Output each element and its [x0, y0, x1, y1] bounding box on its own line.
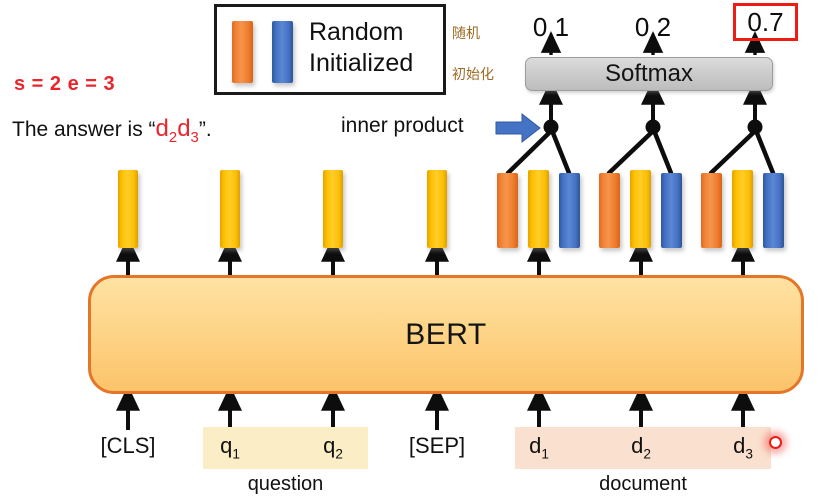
- legend-cn-line2: 初始化: [452, 64, 494, 84]
- legend-label-line2: Initialized: [309, 48, 413, 79]
- probability-value-2: 0.2: [623, 12, 683, 43]
- answer-token-1: d2: [156, 115, 178, 142]
- dot-to-softmax-arrows: [551, 92, 755, 122]
- token-to-encoder-arrows: [128, 398, 743, 430]
- laser-pointer-dot-cursor: [769, 436, 782, 449]
- legend-label-line1: Random: [309, 17, 413, 48]
- answer-prefix: The answer is “: [12, 118, 156, 141]
- input-token-d2: d2: [611, 433, 671, 461]
- encoder-to-vector-arrows: [128, 249, 743, 275]
- softmax-to-prob-arrows: [551, 42, 755, 55]
- inner-product-dots: [544, 120, 763, 135]
- input-token-q2: q2: [303, 433, 363, 461]
- bert-encoder-block: BERT: [88, 275, 804, 394]
- answer-token-2-subscript: 3: [191, 130, 199, 146]
- probability-value-3-highlighted: 0.7: [733, 3, 798, 41]
- document-segment-label: document: [568, 473, 718, 496]
- legend-swatch-orange-bar: [232, 21, 253, 83]
- softmax-block: Softmax: [525, 57, 773, 91]
- output-vector-bar-sep-yellow: [427, 170, 447, 248]
- output-vector-bar-d2-yellow: [630, 170, 651, 248]
- output-vector-bar-d1-yellow: [528, 170, 549, 248]
- bert-label: BERT: [405, 318, 486, 352]
- question-segment-label: question: [213, 473, 358, 496]
- softmax-label: Softmax: [605, 60, 693, 88]
- start-vector-bar-d2-orange: [599, 173, 620, 248]
- answer-token-1-subscript: 2: [169, 130, 177, 146]
- output-vector-bar-d3-yellow: [732, 170, 753, 248]
- output-vector-bar-q1-yellow: [220, 170, 240, 248]
- input-token-q2-subscript: 2: [335, 446, 343, 461]
- end-vector-bar-d3-blue: [763, 173, 784, 248]
- legend-box: Random Initialized: [214, 4, 446, 95]
- input-token-q1-subscript: 1: [232, 446, 240, 461]
- start-vector-bar-d3-orange: [701, 173, 722, 248]
- legend-cn-line1: 随机: [452, 23, 480, 43]
- start-vector-bar-d1-orange: [497, 173, 518, 248]
- legend-label: Random Initialized: [309, 17, 413, 78]
- input-token-sep: [SEP]: [397, 433, 477, 459]
- input-token-q1: q1: [200, 433, 260, 461]
- input-token-d1-subscript: 1: [541, 446, 549, 461]
- input-token-d3-subscript: 3: [745, 446, 753, 461]
- output-vector-bar-q2-yellow: [323, 170, 343, 248]
- output-vector-bar-cls-yellow: [118, 170, 138, 248]
- answer-sentence: The answer is “d2d3”.: [12, 115, 212, 146]
- answer-suffix: ”.: [199, 118, 212, 141]
- end-vector-bar-d2-blue: [661, 173, 682, 248]
- blue-right-arrow-icon: [494, 112, 542, 144]
- inner-product-label: inner product: [341, 114, 464, 138]
- diagram-canvas: s = 2 e = 3 The answer is “d2d3”. Random…: [0, 0, 818, 504]
- span-index-annotation: s = 2 e = 3: [14, 73, 115, 96]
- end-vector-bar-d1-blue: [559, 173, 580, 248]
- legend-swatch-blue-bar: [272, 21, 293, 83]
- probability-value-1: 0.1: [521, 12, 581, 43]
- input-token-d1: d1: [509, 433, 569, 461]
- answer-token-2: d3: [177, 115, 199, 142]
- input-token-d2-subscript: 2: [643, 446, 651, 461]
- inner-product-connectors: [508, 133, 773, 173]
- input-token-cls: [CLS]: [88, 433, 168, 459]
- probability-value-3: 0.7: [747, 7, 783, 38]
- input-token-d3: d3: [713, 433, 773, 461]
